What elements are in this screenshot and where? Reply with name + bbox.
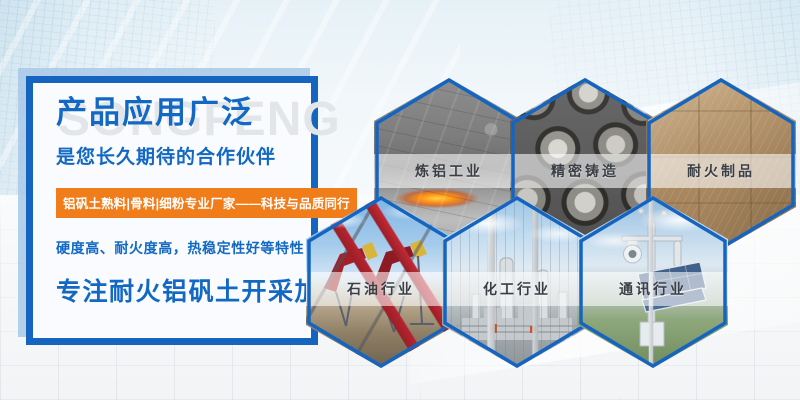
hex-tile-telecom[interactable]: 通讯行业 [578, 196, 728, 368]
industry-hexagon-grid: 炼铝工业 精密铸造 耐火制品 [0, 0, 800, 400]
hex-border-icon [306, 196, 456, 368]
hex-tile-petroleum[interactable]: 石油行业 [306, 196, 456, 368]
hex-tile-chemical[interactable]: 化工行业 [442, 196, 592, 368]
hex-border-icon [442, 196, 592, 368]
banner-stage: SONGFENG 产品应用广泛 是您长久期待的合作伙伴 铝矾土熟料|骨料|细粉专… [0, 0, 800, 400]
hex-border-icon [578, 196, 728, 368]
